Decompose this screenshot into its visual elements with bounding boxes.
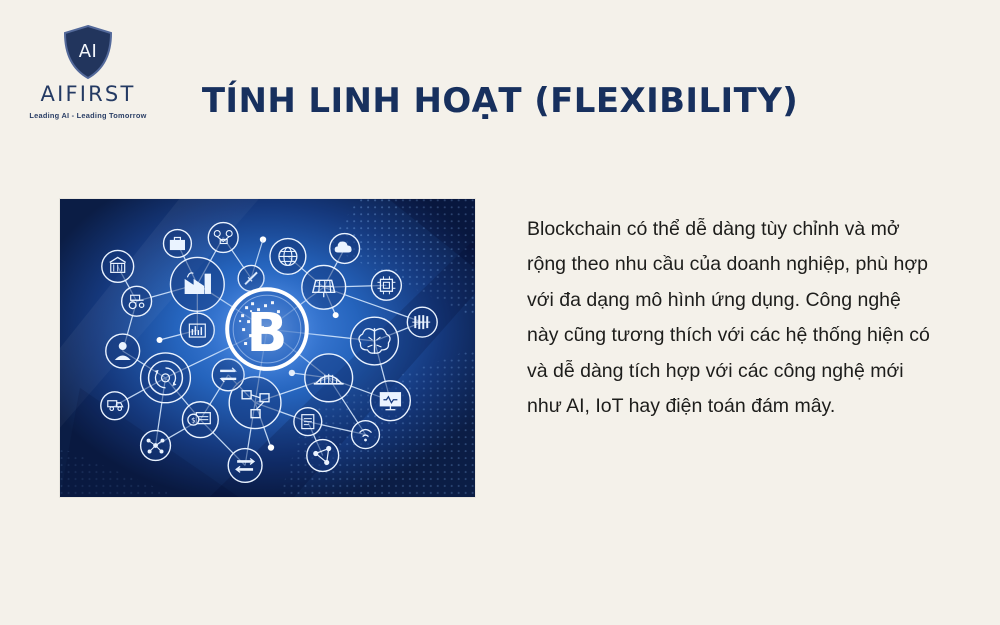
briefcase-icon [164,230,192,258]
shield-label: AI [79,41,98,62]
bitcoin-center-node: B [205,267,328,390]
money-icon: $ [182,402,218,438]
person-icon [106,334,140,368]
server-icon [407,307,437,337]
network-icon [141,431,171,461]
shield-icon-wrap: AI [22,24,154,80]
page-title: TÍNH LINH HOẠT (FLEXIBILITY) [0,81,1000,121]
target-icon [141,353,191,403]
share-icon [307,440,339,472]
body-paragraph: Blockchain có thể dễ dàng tùy chỉnh và m… [527,212,932,425]
blockchain-network-illustration: $ [59,198,476,498]
wifi-icon [352,421,380,449]
document-icon [294,408,322,436]
microchip-icon [371,270,401,300]
tractor-icon [122,286,152,316]
bitcoin-symbol: B [247,301,288,364]
exchange-alt-icon [228,449,262,483]
drone-icon [208,223,238,253]
network-diagram: $ [60,199,475,497]
cloud-icon [330,234,360,264]
truck-icon [101,392,129,420]
brain-icon [351,317,399,365]
bank-icon [102,250,134,282]
shield-icon: AI [62,24,114,80]
svg-text:$: $ [191,417,195,425]
monitor-icon [371,381,411,421]
